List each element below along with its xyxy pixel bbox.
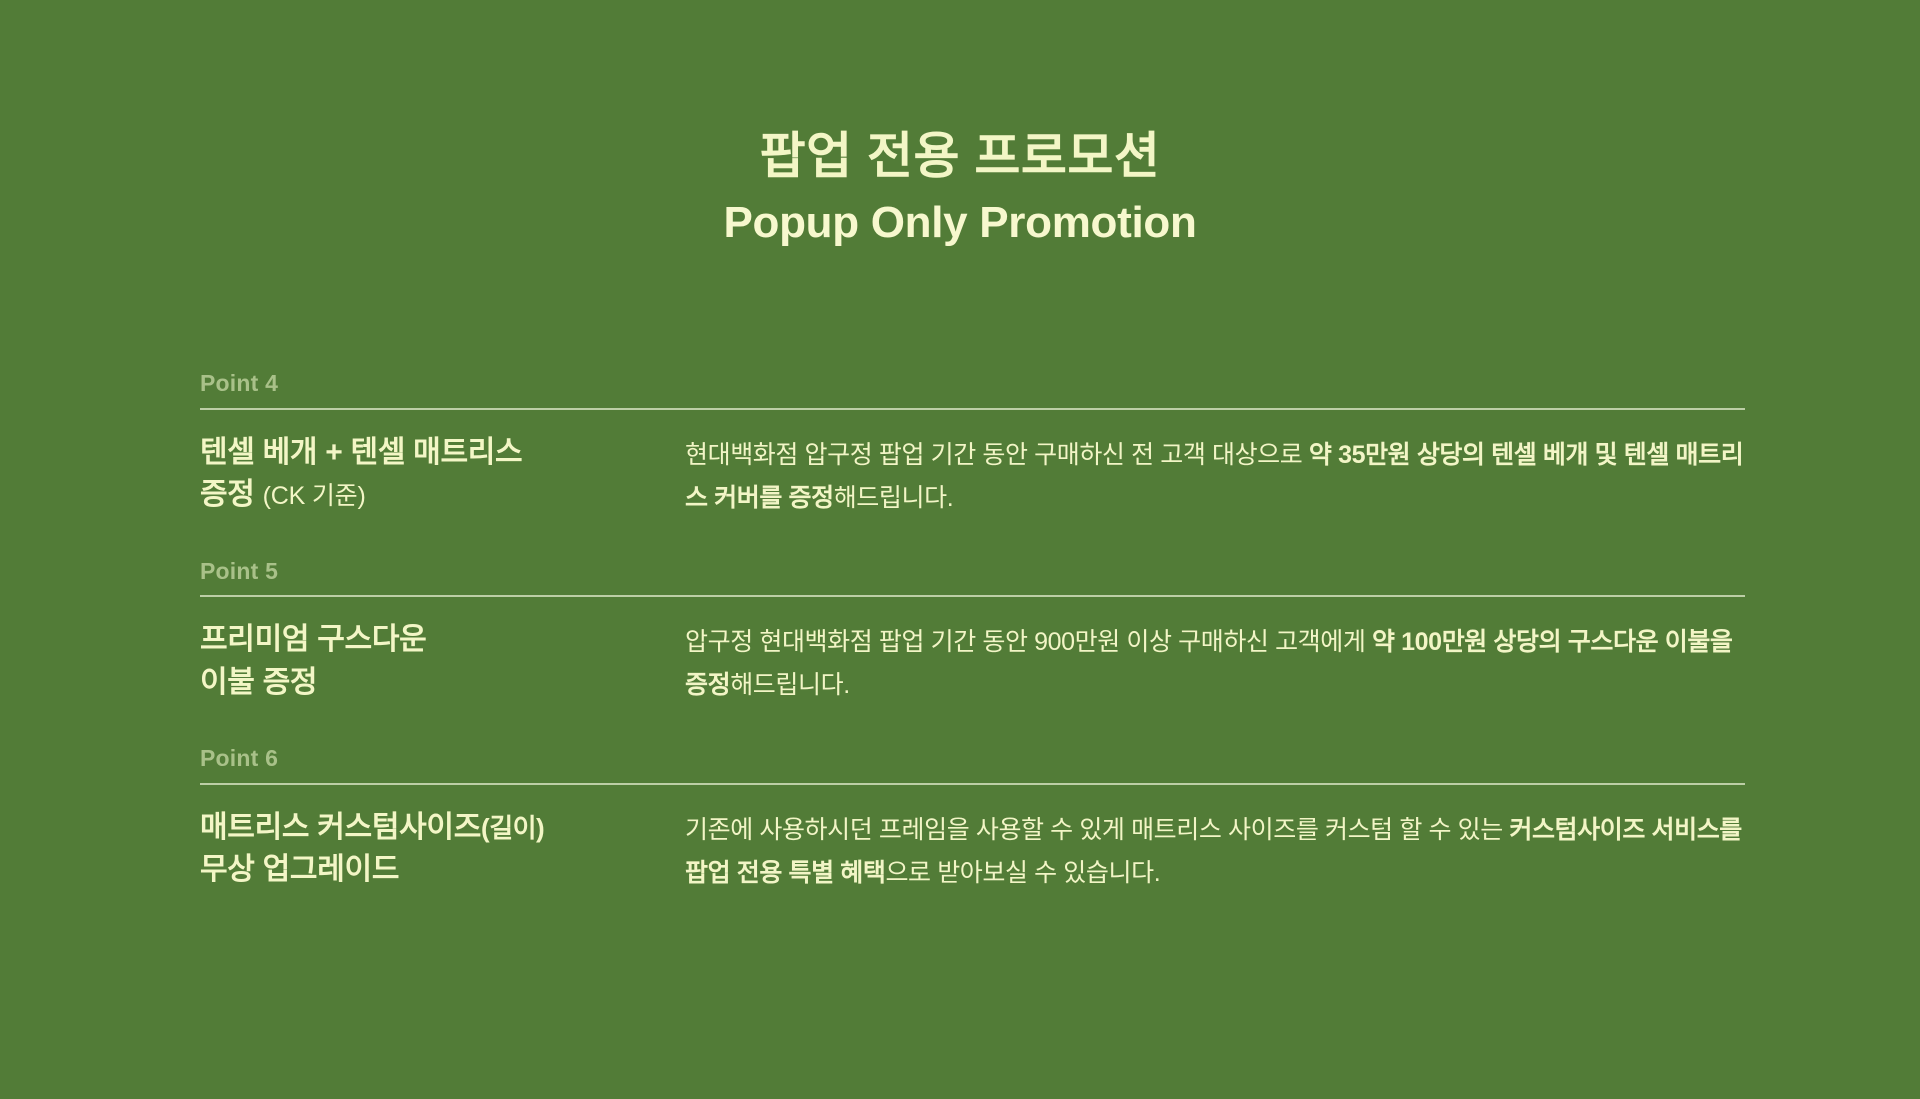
point-heading-4-line2: 증정 bbox=[200, 478, 255, 511]
promotion-page: 팝업 전용 프로모션 Popup Only Promotion Point 4 … bbox=[0, 0, 1920, 1099]
point-heading-6-note: (길이) bbox=[481, 813, 544, 843]
point-body-6: 기존에 사용하시던 프레임을 사용할 수 있게 매트리스 사이즈를 커스텀 할 … bbox=[685, 807, 1745, 895]
point-body-4-lead: 현대백화점 압구정 팝업 기간 동안 구매하신 전 고객 대상으로 bbox=[685, 441, 1309, 469]
point-body-6-tail: 으로 받아보실 수 있습니다. bbox=[885, 859, 1160, 887]
point-heading-5-line1: 프리미엄 구스다운 bbox=[200, 623, 426, 656]
point-heading-6-line1-text: 매트리스 커스텀사이즈 bbox=[200, 811, 481, 844]
point-body-5-lead: 압구정 현대백화점 팝업 기간 동안 900만원 이상 구매하신 고객에게 bbox=[685, 628, 1372, 656]
page-header: 팝업 전용 프로모션 Popup Only Promotion bbox=[0, 128, 1920, 249]
points-list: Point 4 텐셀 베개 + 텐셀 매트리스 증정 (CK 기준) 현대백화점… bbox=[200, 370, 1745, 895]
point-body-6-lead: 기존에 사용하시던 프레임을 사용할 수 있게 매트리스 사이즈를 커스텀 할 … bbox=[685, 816, 1509, 844]
point-block-4: Point 4 텐셀 베개 + 텐셀 매트리스 증정 (CK 기준) 현대백화점… bbox=[200, 370, 1745, 520]
point-label-5: Point 5 bbox=[200, 558, 1745, 596]
point-label-6: Point 6 bbox=[200, 745, 1745, 783]
point-heading-6-line1: 매트리스 커스텀사이즈(길이) bbox=[200, 811, 544, 844]
point-body-5-tail: 해드립니다. bbox=[730, 671, 850, 699]
point-heading-5-line2: 이불 증정 bbox=[200, 666, 317, 699]
point-heading-6-line2: 무상 업그레이드 bbox=[200, 853, 399, 886]
point-divider-6 bbox=[200, 783, 1745, 785]
point-content-5: 프리미엄 구스다운 이불 증정 압구정 현대백화점 팝업 기간 동안 900만원… bbox=[200, 597, 1745, 707]
page-title-english: Popup Only Promotion bbox=[0, 198, 1920, 249]
point-content-4: 텐셀 베개 + 텐셀 매트리스 증정 (CK 기준) 현대백화점 압구정 팝업 … bbox=[200, 410, 1745, 520]
point-heading-4-note: (CK 기준) bbox=[263, 482, 366, 510]
page-title-korean: 팝업 전용 프로모션 bbox=[0, 128, 1920, 184]
point-heading-5: 프리미엄 구스다운 이불 증정 bbox=[200, 619, 685, 704]
point-block-6: Point 6 매트리스 커스텀사이즈(길이) 무상 업그레이드 기존에 사용하… bbox=[200, 745, 1745, 895]
point-block-5: Point 5 프리미엄 구스다운 이불 증정 압구정 현대백화점 팝업 기간 … bbox=[200, 558, 1745, 708]
point-body-4-tail: 해드립니다. bbox=[834, 484, 954, 512]
point-body-4: 현대백화점 압구정 팝업 기간 동안 구매하신 전 고객 대상으로 약 35만원… bbox=[685, 432, 1745, 520]
point-label-4: Point 4 bbox=[200, 370, 1745, 408]
point-heading-4-line1: 텐셀 베개 + 텐셀 매트리스 bbox=[200, 436, 522, 469]
point-heading-6: 매트리스 커스텀사이즈(길이) 무상 업그레이드 bbox=[200, 807, 685, 892]
point-content-6: 매트리스 커스텀사이즈(길이) 무상 업그레이드 기존에 사용하시던 프레임을 … bbox=[200, 785, 1745, 895]
point-heading-4: 텐셀 베개 + 텐셀 매트리스 증정 (CK 기준) bbox=[200, 432, 685, 517]
point-body-5: 압구정 현대백화점 팝업 기간 동안 900만원 이상 구매하신 고객에게 약 … bbox=[685, 619, 1745, 707]
point-divider-5 bbox=[200, 595, 1745, 597]
point-divider-4 bbox=[200, 408, 1745, 410]
